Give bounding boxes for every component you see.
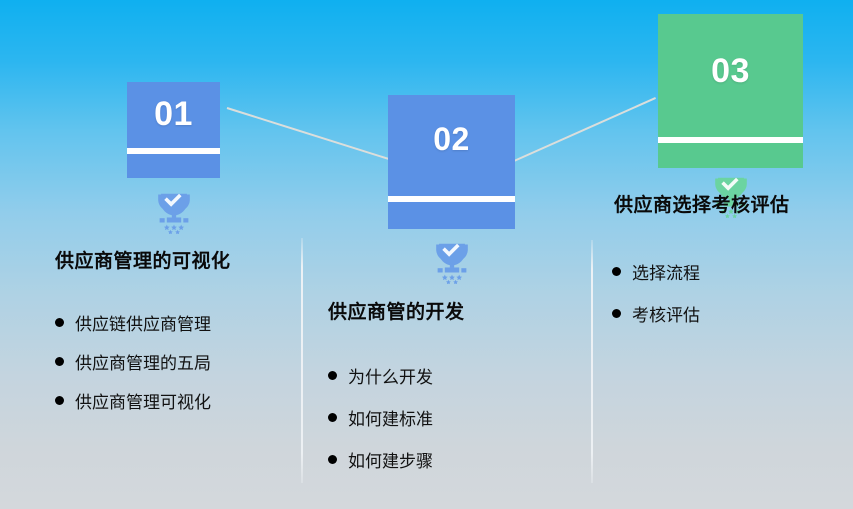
bullet-text: 如何建标准 bbox=[348, 405, 433, 430]
step-box-divider-bar-03 bbox=[658, 137, 803, 143]
list-item: 供应商管理的五局 bbox=[55, 349, 295, 374]
column-title-01: 供应商管理的可视化 bbox=[55, 246, 295, 273]
bullet-text: 考核评估 bbox=[632, 301, 700, 326]
column-title-02: 供应商管的开发 bbox=[328, 297, 578, 324]
list-item: 如何建标准 bbox=[328, 405, 578, 430]
bullet-dot-icon bbox=[55, 318, 64, 327]
connector-line-1-2 bbox=[227, 107, 392, 161]
bullet-list-02: 为什么开发 如何建标准 如何建步骤 bbox=[328, 363, 578, 472]
bullet-dot-icon bbox=[328, 413, 337, 422]
bullet-text: 供应商管理的五局 bbox=[75, 349, 211, 374]
bullet-dot-icon bbox=[328, 455, 337, 464]
trophy-check-icon-01 bbox=[151, 188, 197, 234]
bullet-text: 供应商管理可视化 bbox=[75, 388, 211, 413]
step-number-01: 01 bbox=[127, 95, 220, 134]
step-box-03[interactable]: 03 bbox=[658, 14, 803, 168]
list-item: 如何建步骤 bbox=[328, 447, 578, 472]
trophy-check-icon-02 bbox=[429, 238, 475, 284]
column-title-03: 供应商选择考核评估 bbox=[614, 190, 844, 217]
bullet-dot-icon bbox=[55, 396, 64, 405]
step-box-divider-bar-02 bbox=[388, 196, 515, 202]
connector-line-2-3 bbox=[514, 97, 656, 162]
list-item: 为什么开发 bbox=[328, 363, 578, 388]
step-box-02[interactable]: 02 bbox=[388, 95, 515, 229]
bullet-text: 供应链供应商管理 bbox=[75, 310, 211, 335]
list-item: 选择流程 bbox=[612, 259, 844, 284]
step-box-01[interactable]: 01 bbox=[127, 82, 220, 178]
step-number-03: 03 bbox=[658, 52, 803, 91]
bullet-text: 如何建步骤 bbox=[348, 447, 433, 472]
bullet-list-01: 供应链供应商管理 供应商管理的五局 供应商管理可视化 bbox=[55, 310, 295, 413]
bullet-dot-icon bbox=[328, 371, 337, 380]
column-divider-1 bbox=[301, 238, 303, 483]
infographic-canvas: 01 供应商管理的可视化 bbox=[0, 0, 853, 509]
step-box-divider-bar-01 bbox=[127, 148, 220, 154]
list-item: 供应链供应商管理 bbox=[55, 310, 295, 335]
column-divider-2 bbox=[591, 240, 593, 483]
bullet-list-03: 选择流程 考核评估 bbox=[612, 259, 844, 326]
list-item: 供应商管理可视化 bbox=[55, 388, 295, 413]
bullet-dot-icon bbox=[55, 357, 64, 366]
bullet-dot-icon bbox=[612, 309, 621, 318]
column-03: 供应商选择考核评估 选择流程 考核评估 bbox=[614, 190, 844, 326]
column-01: 供应商管理的可视化 供应链供应商管理 供应商管理的五局 供应商管理可视化 bbox=[55, 246, 295, 413]
column-02: 供应商管的开发 为什么开发 如何建标准 如何建步骤 bbox=[328, 297, 578, 472]
list-item: 考核评估 bbox=[612, 301, 844, 326]
bullet-dot-icon bbox=[612, 267, 621, 276]
bullet-text: 为什么开发 bbox=[348, 363, 433, 388]
bullet-text: 选择流程 bbox=[632, 259, 700, 284]
step-number-02: 02 bbox=[388, 121, 515, 158]
